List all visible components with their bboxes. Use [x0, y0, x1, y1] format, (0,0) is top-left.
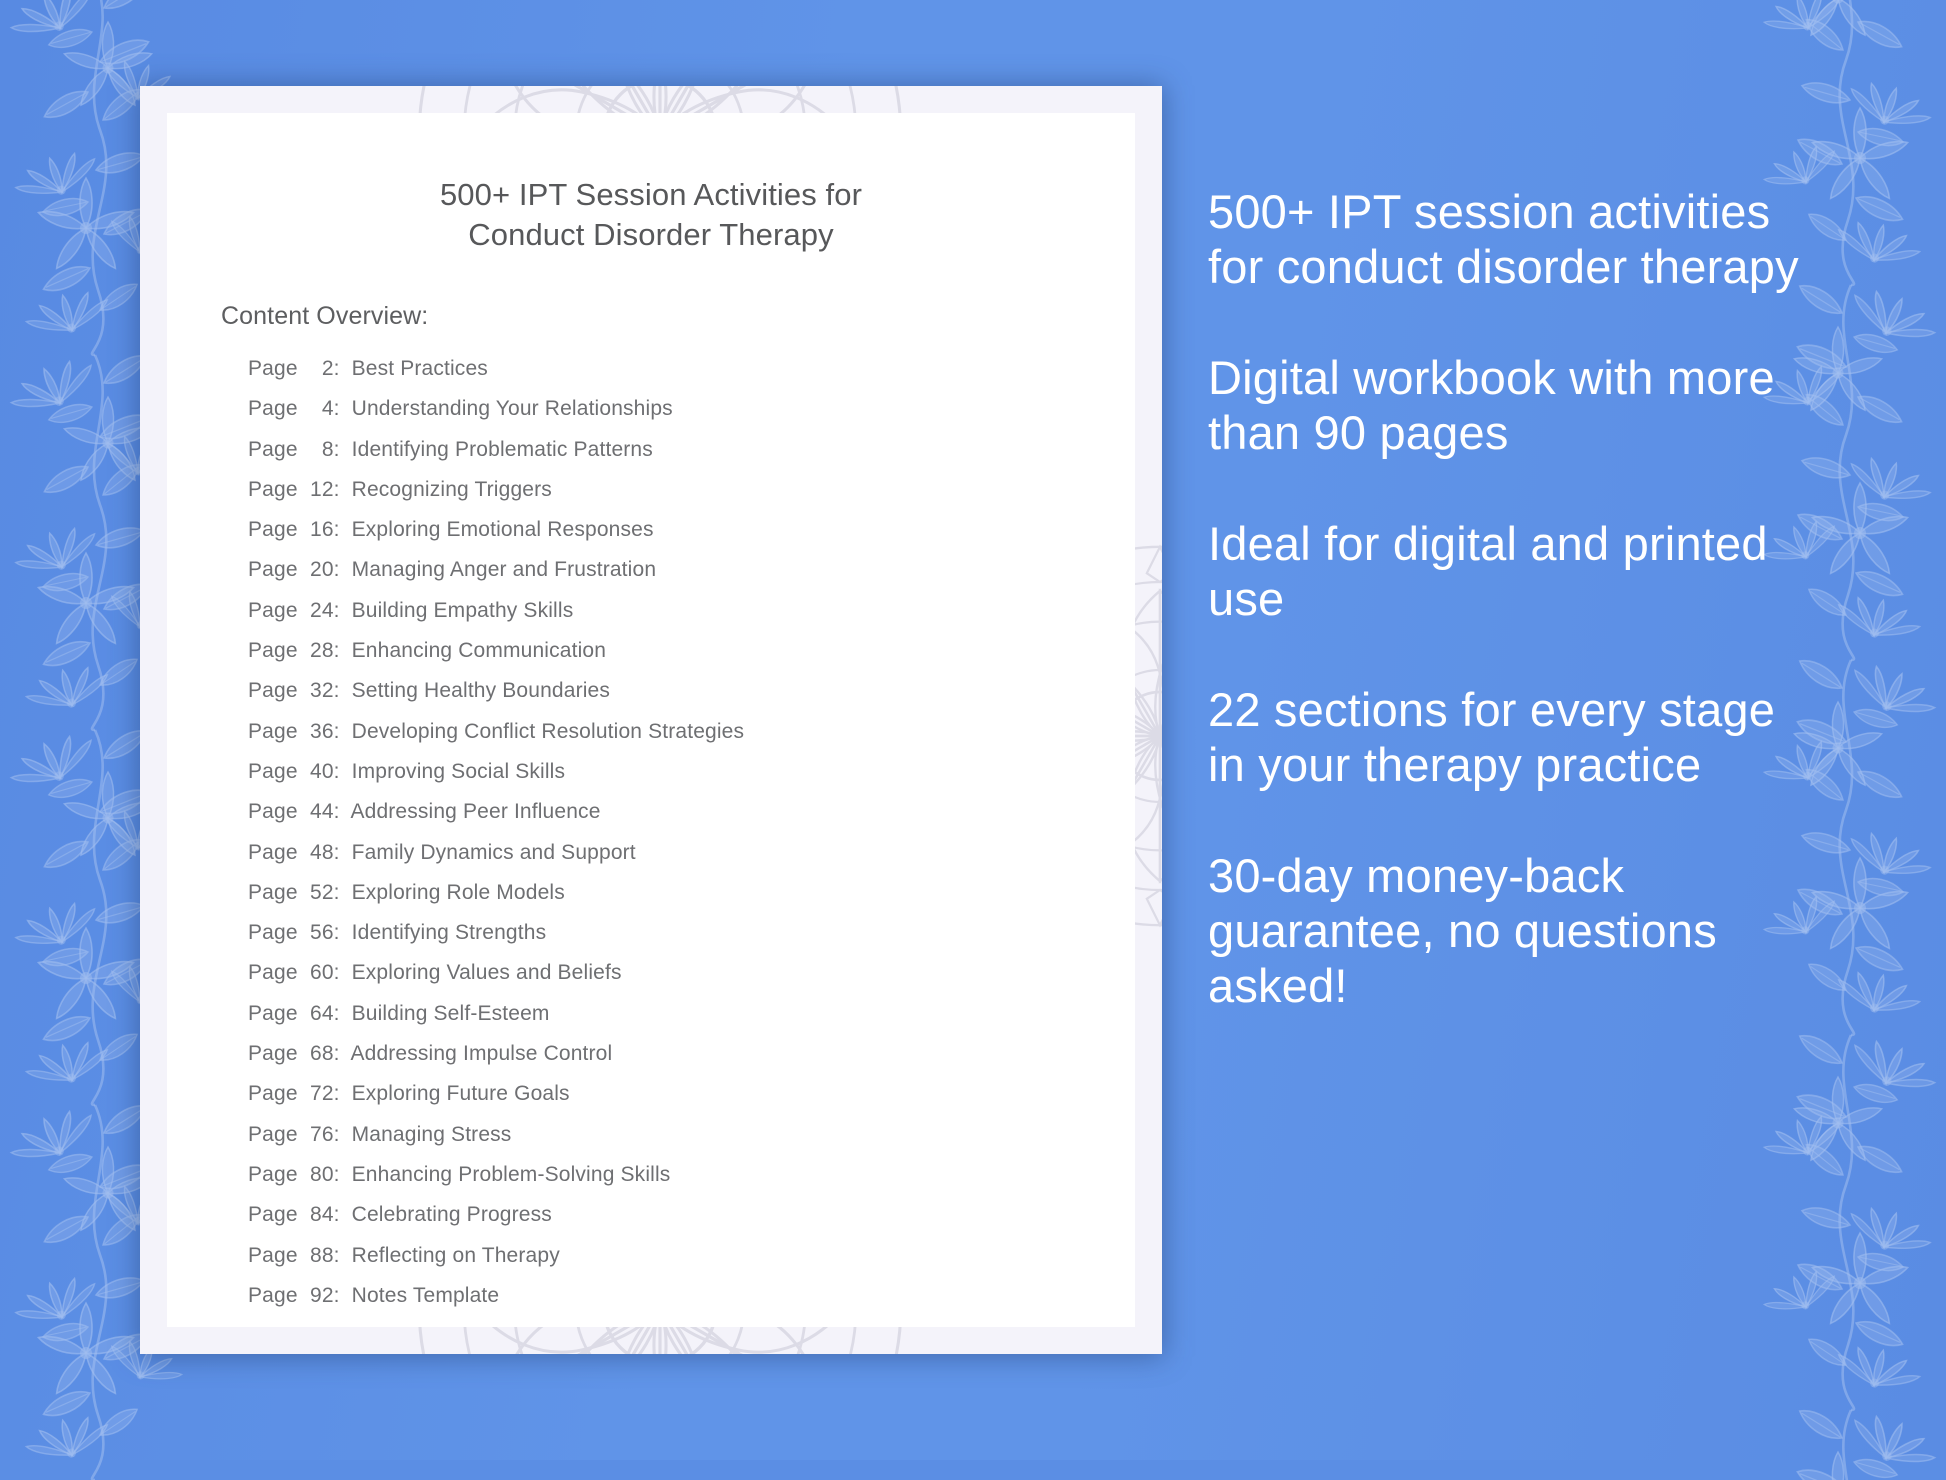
toc-entry: Page 72: Exploring Future Goals	[248, 1083, 1135, 1104]
toc-entry: Page 80: Enhancing Problem-Solving Skill…	[248, 1164, 1135, 1185]
promo-block: 22 sections for every stage in your ther…	[1208, 683, 1808, 793]
toc-entry: Page 60: Exploring Values and Beliefs	[248, 962, 1135, 983]
toc-entry: Page 48: Family Dynamics and Support	[248, 842, 1135, 863]
promo-block: 500+ IPT session activities for conduct …	[1208, 185, 1808, 295]
toc-entry-title: Exploring Values and Beliefs	[352, 961, 622, 984]
toc-entry-page-word: Page	[248, 1082, 298, 1105]
toc-entry-page-number: 88	[304, 1245, 334, 1266]
toc-entry-page-word: Page	[248, 720, 298, 743]
toc-entry-page-number: 52	[304, 882, 334, 903]
toc-entry-page-number: 72	[304, 1083, 334, 1104]
toc-entry: Page 2: Best Practices	[248, 358, 1135, 379]
toc-entry: Page 56: Identifying Strengths	[248, 922, 1135, 943]
toc-entry-title: Celebrating Progress	[352, 1203, 552, 1226]
toc-entry: Page 36: Developing Conflict Resolution …	[248, 721, 1135, 742]
toc-entry-title: Improving Social Skills	[352, 760, 566, 783]
toc-entry-title: Best Practices	[352, 357, 488, 380]
content-overview-label: Content Overview:	[167, 255, 1135, 331]
toc-entry-title: Enhancing Communication	[352, 639, 606, 662]
toc-entry: Page 12: Recognizing Triggers	[248, 479, 1135, 500]
toc-entry-page-number: 2	[304, 358, 334, 379]
promo-block: Digital workbook with more than 90 pages	[1208, 351, 1808, 461]
toc-entry-page-word: Page	[248, 841, 298, 864]
toc-entry-title: Building Empathy Skills	[352, 599, 574, 622]
toc-entry-page-word: Page	[248, 478, 298, 501]
document-title-line-1: 500+ IPT Session Activities for	[167, 175, 1135, 215]
document-sheet: 500+ IPT Session Activities for Conduct …	[167, 113, 1135, 1327]
toc-entry-title: Enhancing Problem-Solving Skills	[352, 1163, 671, 1186]
toc-entry-page-number: 60	[304, 962, 334, 983]
toc-entry-title: Exploring Future Goals	[352, 1082, 570, 1105]
toc-entry-page-number: 28	[304, 640, 334, 661]
toc-entry: Page 8: Identifying Problematic Patterns	[248, 439, 1135, 460]
toc-entry-page-number: 64	[304, 1003, 334, 1024]
promo-block: Ideal for digital and printed use	[1208, 517, 1808, 627]
toc-entry: Page 28: Enhancing Communication	[248, 640, 1135, 661]
toc-entry: Page 40: Improving Social Skills	[248, 761, 1135, 782]
toc-entry: Page 32: Setting Healthy Boundaries	[248, 680, 1135, 701]
document-page: 500+ IPT Session Activities for Conduct …	[140, 86, 1162, 1354]
toc-entry-page-word: Page	[248, 881, 298, 904]
toc-entry-page-word: Page	[248, 1123, 298, 1146]
toc-entry-page-word: Page	[248, 1163, 298, 1186]
toc-entry: Page 24: Building Empathy Skills	[248, 600, 1135, 621]
toc-entry-page-word: Page	[248, 558, 298, 581]
toc-entry-page-word: Page	[248, 438, 298, 461]
toc-entry-title: Managing Stress	[352, 1123, 512, 1146]
toc-entry-page-word: Page	[248, 800, 298, 823]
toc-entry-page-word: Page	[248, 1002, 298, 1025]
toc-entry-page-word: Page	[248, 760, 298, 783]
toc-entry-title: Setting Healthy Boundaries	[352, 679, 610, 702]
toc-entry-title: Managing Anger and Frustration	[352, 558, 657, 581]
toc-entry-title: Developing Conflict Resolution Strategie…	[352, 720, 745, 743]
toc-entry-title: Family Dynamics and Support	[352, 841, 636, 864]
toc-entry-page-word: Page	[248, 1244, 298, 1267]
toc-entry-page-word: Page	[248, 1284, 298, 1307]
toc-entry-page-word: Page	[248, 1203, 298, 1226]
toc-entry-page-number: 84	[304, 1204, 334, 1225]
toc-entry: Page 84: Celebrating Progress	[248, 1204, 1135, 1225]
toc-entry-page-number: 40	[304, 761, 334, 782]
toc-entry-page-word: Page	[248, 1042, 298, 1065]
toc-entry-page-number: 92	[304, 1285, 334, 1306]
toc-entry-title: Reflecting on Therapy	[352, 1244, 560, 1267]
promo-block: 30-day money-back guarantee, no question…	[1208, 849, 1808, 1014]
toc-entry: Page 4: Understanding Your Relationships	[248, 398, 1135, 419]
toc-entry-page-word: Page	[248, 679, 298, 702]
toc-entry: Page 16: Exploring Emotional Responses	[248, 519, 1135, 540]
toc-entry-page-number: 24	[304, 600, 334, 621]
toc-entry-page-number: 68	[304, 1043, 334, 1064]
promo-column: 500+ IPT session activities for conduct …	[1208, 185, 1808, 1014]
toc-entry: Page 76: Managing Stress	[248, 1124, 1135, 1145]
toc-entry-title: Notes Template	[352, 1284, 500, 1307]
toc-entry-page-word: Page	[248, 397, 298, 420]
toc-entry: Page 20: Managing Anger and Frustration	[248, 559, 1135, 580]
toc-entry-page-word: Page	[248, 921, 298, 944]
toc-entry-page-word: Page	[248, 599, 298, 622]
toc-entry-page-number: 80	[304, 1164, 334, 1185]
toc-entry-title: Identifying Problematic Patterns	[352, 438, 653, 461]
toc-entry-title: Understanding Your Relationships	[352, 397, 673, 420]
toc-entry-title: Exploring Emotional Responses	[352, 518, 654, 541]
toc-entry: Page 92: Notes Template	[248, 1285, 1135, 1306]
toc-entry: Page 52: Exploring Role Models	[248, 882, 1135, 903]
toc-entry-title: Identifying Strengths	[352, 921, 547, 944]
toc-entry-page-number: 12	[304, 479, 334, 500]
toc-entry-page-number: 44	[304, 801, 334, 822]
toc-entry-page-number: 56	[304, 922, 334, 943]
toc-entry-title: Exploring Role Models	[352, 881, 565, 904]
toc-entry-page-word: Page	[248, 518, 298, 541]
document-title: 500+ IPT Session Activities for Conduct …	[167, 113, 1135, 255]
toc-entry-page-number: 32	[304, 680, 334, 701]
toc-entry-title: Addressing Peer Influence	[350, 800, 600, 823]
toc-entry-page-number: 48	[304, 842, 334, 863]
toc-entry: Page 88: Reflecting on Therapy	[248, 1245, 1135, 1266]
toc-entry-title: Building Self-Esteem	[352, 1002, 550, 1025]
toc-entry-page-number: 36	[304, 721, 334, 742]
toc-entry-page-number: 4	[304, 398, 334, 419]
toc-entry-page-word: Page	[248, 357, 298, 380]
toc-entry-title: Recognizing Triggers	[352, 478, 552, 501]
toc-entry-page-number: 16	[304, 519, 334, 540]
document-title-line-2: Conduct Disorder Therapy	[167, 215, 1135, 255]
toc-entry-title: Addressing Impulse Control	[350, 1042, 612, 1065]
table-of-contents: Page 2: Best PracticesPage 4: Understand…	[167, 331, 1135, 1306]
toc-entry-page-number: 76	[304, 1124, 334, 1145]
toc-entry-page-word: Page	[248, 639, 298, 662]
toc-entry: Page 44: Addressing Peer Influence	[248, 801, 1135, 822]
toc-entry-page-word: Page	[248, 961, 298, 984]
toc-entry-page-number: 8	[304, 439, 334, 460]
toc-entry: Page 68: Addressing Impulse Control	[248, 1043, 1135, 1064]
toc-entry-page-number: 20	[304, 559, 334, 580]
toc-entry: Page 64: Building Self-Esteem	[248, 1003, 1135, 1024]
